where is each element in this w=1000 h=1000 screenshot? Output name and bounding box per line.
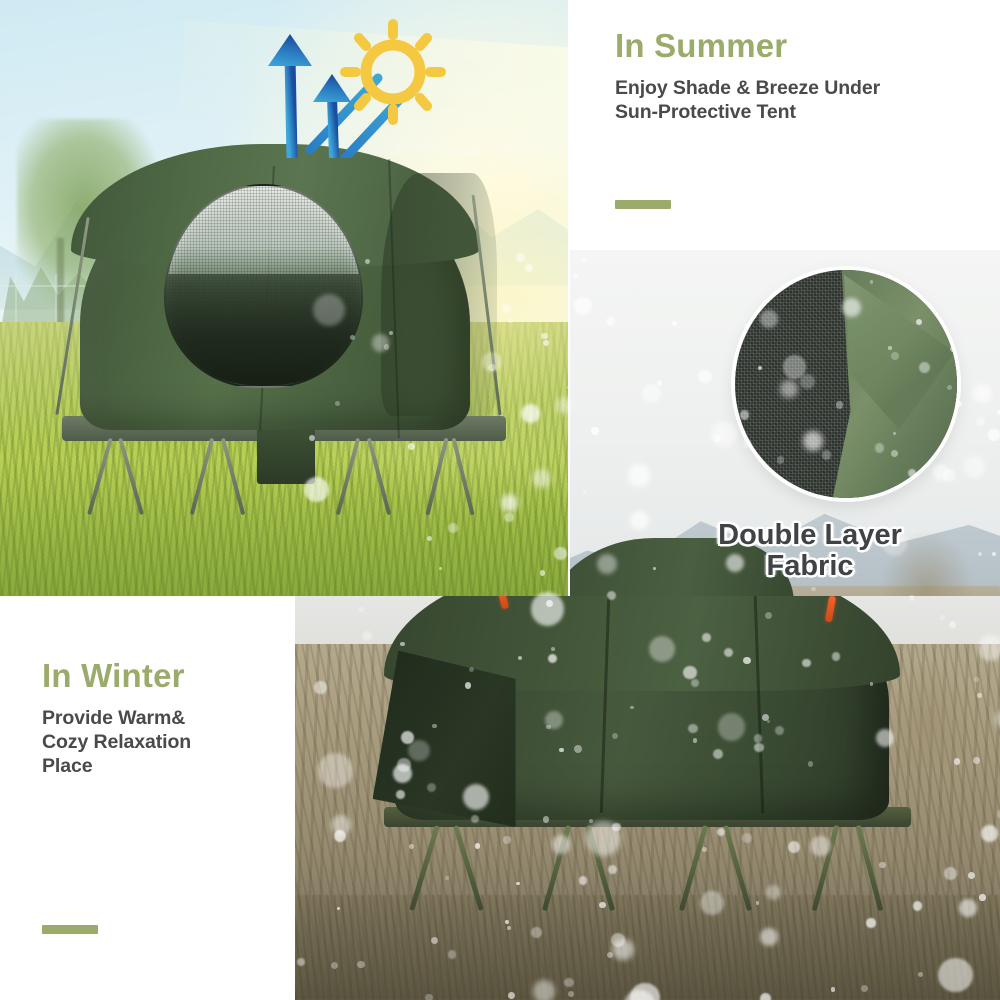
summer-subtext-line-1: Enjoy Shade & Breeze Under	[615, 77, 880, 99]
summer-heading: In Summer	[615, 28, 990, 65]
sun-protection-icon-group	[250, 8, 460, 158]
summer-tent-cot	[62, 137, 505, 495]
winter-brush	[295, 895, 1000, 1000]
sun-icon	[345, 24, 441, 120]
summer-subtext-line-2: Sun-Protective Tent	[615, 101, 796, 123]
fabric-closeup-circle	[735, 270, 957, 498]
fabric-detail-panel	[570, 250, 1000, 650]
winter-subtext-line-1: Provide Warm&	[42, 707, 185, 729]
storage-pocket	[257, 423, 315, 484]
summer-subtext: Enjoy Shade & Breeze Under Sun-Protectiv…	[615, 77, 990, 125]
tent-side-panel	[381, 173, 496, 416]
winter-heading: In Winter	[42, 658, 292, 695]
tent-mesh-window	[164, 184, 363, 388]
winter-photo	[295, 596, 1000, 1000]
winter-subtext: Provide Warm& Cozy Relaxation Place	[42, 707, 292, 778]
arrow-up-icon	[268, 34, 312, 158]
summer-accent-bar	[615, 200, 671, 209]
winter-tent-cot	[373, 596, 923, 895]
tent-door-flap	[373, 651, 516, 827]
summer-photo	[0, 0, 568, 596]
winter-text-block: In Winter Provide Warm& Cozy Relaxation …	[42, 658, 292, 778]
summer-text-block: In Summer Enjoy Shade & Breeze Under Sun…	[615, 28, 990, 125]
winter-subtext-line-2: Cozy Relaxation	[42, 731, 191, 753]
winter-subtext-line-3: Place	[42, 755, 92, 777]
winter-accent-bar	[42, 925, 98, 934]
product-feature-collage: In Summer Enjoy Shade & Breeze Under Sun…	[0, 0, 1000, 1000]
